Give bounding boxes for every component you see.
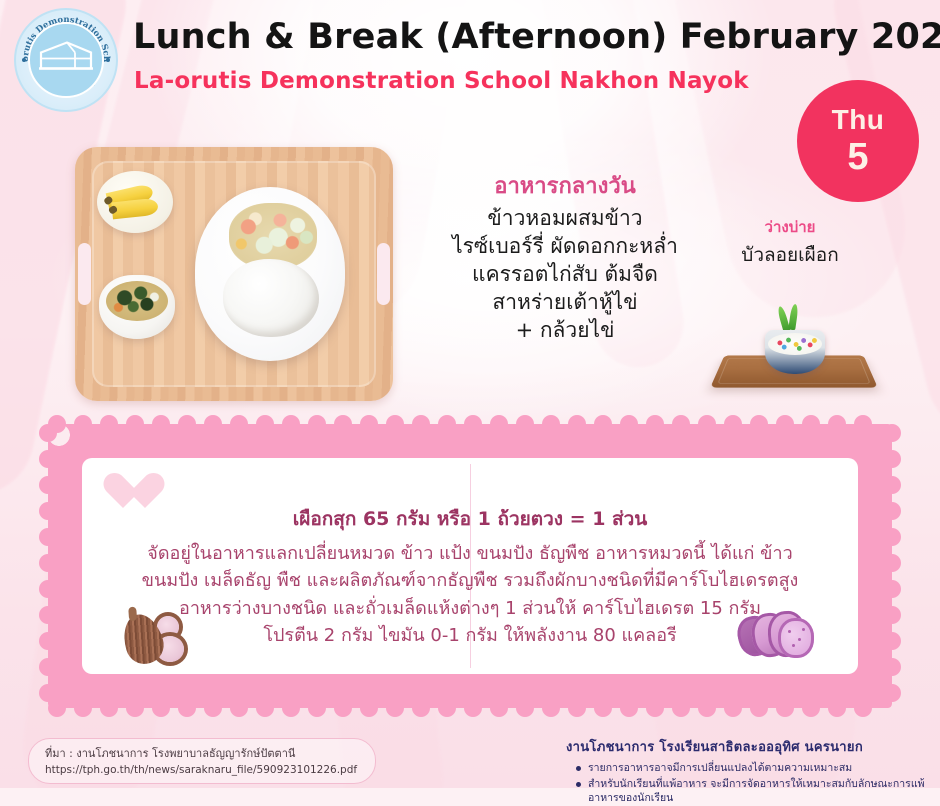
note-item: สำหรับนักเรียนที่แพ้อาหาร จะมีการจัดอาหา…	[576, 777, 926, 805]
scallop-edge-right	[883, 424, 901, 708]
day-number: 5	[847, 138, 868, 176]
snack-heading: ว่างบ่าย	[690, 215, 890, 239]
banana-plate	[97, 171, 173, 233]
scallop-edge-left	[39, 424, 57, 708]
taro-root-icon	[124, 606, 196, 668]
scallop-edge-top	[48, 415, 892, 433]
lunch-line: ข้าวหอมผสมข้าว	[410, 205, 720, 233]
source-citation: ที่มา : งานโภชนาการ โรงพยาบาลธัญญารักษ์ป…	[28, 738, 376, 784]
notes-heading: งานโภชนาการ โรงเรียนสาธิตละอออุทิศ นครนา…	[566, 736, 926, 757]
lunch-line: + กล้วยไข่	[410, 317, 720, 345]
footer-notes: งานโภชนาการ โรงเรียนสาธิตละอออุทิศ นครนา…	[566, 736, 926, 806]
nutrition-heading: เผือกสุก 65 กรัม หรือ 1 ถ้วยตวง = 1 ส่วน	[82, 504, 858, 534]
snack-item: บัวลอยเผือก	[690, 240, 890, 270]
lunch-line: สาหร่ายเต้าหู้ไข่	[410, 289, 720, 317]
lunch-line: แครรอตไก่สับ ต้มจืด	[410, 261, 720, 289]
bullet-icon	[576, 766, 581, 771]
dessert-bowl	[765, 330, 825, 374]
snack-photo	[718, 318, 870, 400]
school-name: La-orutis Demonstration School Nakhon Na…	[134, 68, 749, 94]
ticket-body: เผือกสุก 65 กรัม หรือ 1 ถ้วยตวง = 1 ส่วน…	[82, 458, 858, 674]
building-icon	[37, 39, 95, 82]
page-title: Lunch & Break (Afternoon) February 2026	[133, 17, 940, 57]
scallop-edge-bottom	[48, 699, 892, 717]
rice-plate	[195, 187, 345, 361]
nutrition-line: จัดอยู่ในอาหารแลกเปลี่ยนหมวด ข้าว แป้ง ข…	[82, 540, 858, 567]
lunch-heading: อาหารกลางวัน	[410, 168, 720, 203]
note-text: สำหรับนักเรียนที่แพ้อาหาร จะมีการจัดอาหา…	[588, 777, 926, 805]
note-text: รายการอาหารอาจมีการเปลี่ยนแปลงได้ตามความ…	[588, 761, 852, 775]
lunch-menu: อาหารกลางวัน ข้าวหอมผสมข้าว ไรซ์เบอร์รี่…	[410, 168, 720, 345]
day-badge: Thu 5	[797, 80, 919, 202]
taro-slices-icon	[738, 608, 816, 666]
soup-bowl	[99, 275, 175, 339]
lunch-line: ไรซ์เบอร์รี่ ผัดดอกกะหล่ำ	[410, 233, 720, 261]
lunch-tray-photo	[75, 147, 393, 401]
note-item: รายการอาหารอาจมีการเปลี่ยนแปลงได้ตามความ…	[576, 761, 926, 775]
header: La-orutis Demonstration School โรงเรียนส…	[0, 0, 940, 120]
school-logo: La-orutis Demonstration School โรงเรียนส…	[14, 8, 118, 112]
tray-handle-left	[78, 243, 91, 305]
source-url[interactable]: https://tph.go.th/th/news/saraknaru_file…	[45, 763, 359, 779]
rice-portion	[223, 259, 319, 337]
nutrition-ticket: เผือกสุก 65 กรัม หรือ 1 ถ้วยตวง = 1 ส่วน…	[48, 424, 892, 708]
snack-menu: ว่างบ่าย บัวลอยเผือก	[690, 215, 890, 270]
tray-handle-right	[377, 243, 390, 305]
bullet-icon	[576, 782, 581, 787]
source-label: ที่มา : งานโภชนาการ โรงพยาบาลธัญญารักษ์ป…	[45, 746, 359, 763]
day-of-week: Thu	[832, 106, 885, 134]
lunch-items: ข้าวหอมผสมข้าว ไรซ์เบอร์รี่ ผัดดอกกะหล่ำ…	[410, 205, 720, 345]
nutrition-line: ขนมปัง เมล็ดธัญ พืช และผลิตภัณฑ์จากธัญพื…	[82, 567, 858, 594]
